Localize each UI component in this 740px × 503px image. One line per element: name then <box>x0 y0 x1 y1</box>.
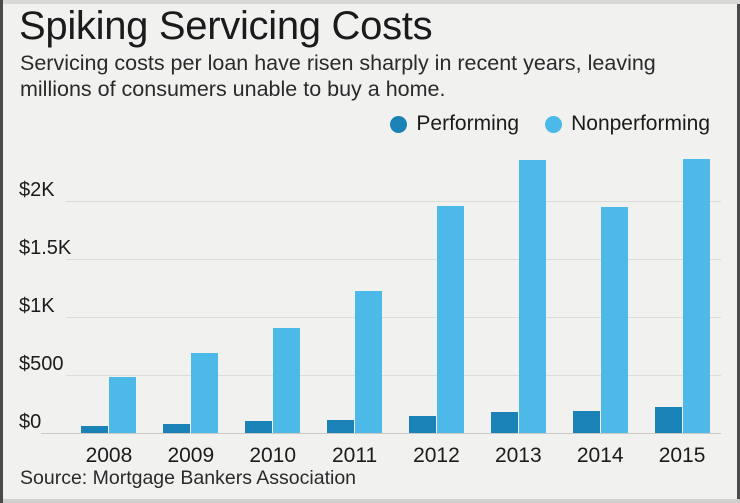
x-axis-tick-label: 2013 <box>478 444 558 468</box>
legend-label-performing: Performing <box>416 112 519 136</box>
y-axis-tick-label: $500 <box>19 353 64 376</box>
y-axis-tick-label: $0 <box>19 411 41 434</box>
plot-area: $0$500$1K$1.5K$2K 2008200920102011201220… <box>3 150 740 440</box>
bar-performing-2009 <box>163 424 190 433</box>
bar-nonperforming-2010 <box>273 328 300 433</box>
chart-legend: Performing Nonperforming <box>390 112 710 136</box>
bar-nonperforming-2009 <box>191 353 218 433</box>
y-axis-tick-label: $2K <box>19 179 55 202</box>
bar-performing-2014 <box>573 411 600 433</box>
bar-group <box>573 150 628 440</box>
chart-title: Spiking Servicing Costs <box>19 4 432 48</box>
source-note: Source: Mortgage Bankers Association <box>20 467 356 490</box>
bar-nonperforming-2012 <box>437 206 464 433</box>
bar-performing-2012 <box>409 416 436 433</box>
bar-group <box>327 150 382 440</box>
bar-group <box>81 150 136 440</box>
bar-performing-2015 <box>655 407 682 433</box>
bar-performing-2013 <box>491 412 518 433</box>
x-axis-tick-label: 2008 <box>69 444 149 468</box>
bar-nonperforming-2013 <box>519 160 546 433</box>
y-axis-tick-label: $1.5K <box>19 237 71 260</box>
bar-nonperforming-2014 <box>601 207 628 433</box>
bar-performing-2011 <box>327 420 354 433</box>
bar-performing-2010 <box>245 421 272 433</box>
bar-series-container <box>66 150 721 440</box>
bar-group <box>245 150 300 440</box>
legend-label-nonperforming: Nonperforming <box>571 112 710 136</box>
y-axis-tick-label: $1K <box>19 295 55 318</box>
x-axis-tick-label: 2014 <box>560 444 640 468</box>
legend-item-nonperforming: Nonperforming <box>545 112 710 136</box>
bottom-edge-strip <box>3 499 740 503</box>
legend-dot-icon <box>390 116 407 133</box>
x-axis-tick-label: 2012 <box>396 444 476 468</box>
x-axis-tick-label: 2011 <box>315 444 395 468</box>
bar-group <box>491 150 546 440</box>
legend-dot-icon <box>545 116 562 133</box>
bar-nonperforming-2015 <box>683 159 710 433</box>
bar-performing-2008 <box>81 426 108 433</box>
x-axis-tick-label: 2009 <box>151 444 231 468</box>
bar-group <box>163 150 218 440</box>
x-axis-tick-label: 2015 <box>642 444 722 468</box>
bar-group <box>655 150 710 440</box>
bar-group <box>409 150 464 440</box>
bar-nonperforming-2011 <box>355 291 382 433</box>
bar-nonperforming-2008 <box>109 377 136 433</box>
x-axis-tick-label: 2010 <box>233 444 313 468</box>
legend-item-performing: Performing <box>390 112 519 136</box>
chart-frame: Spiking Servicing Costs Servicing costs … <box>0 0 740 503</box>
chart-subtitle: Servicing costs per loan have risen shar… <box>20 50 720 102</box>
